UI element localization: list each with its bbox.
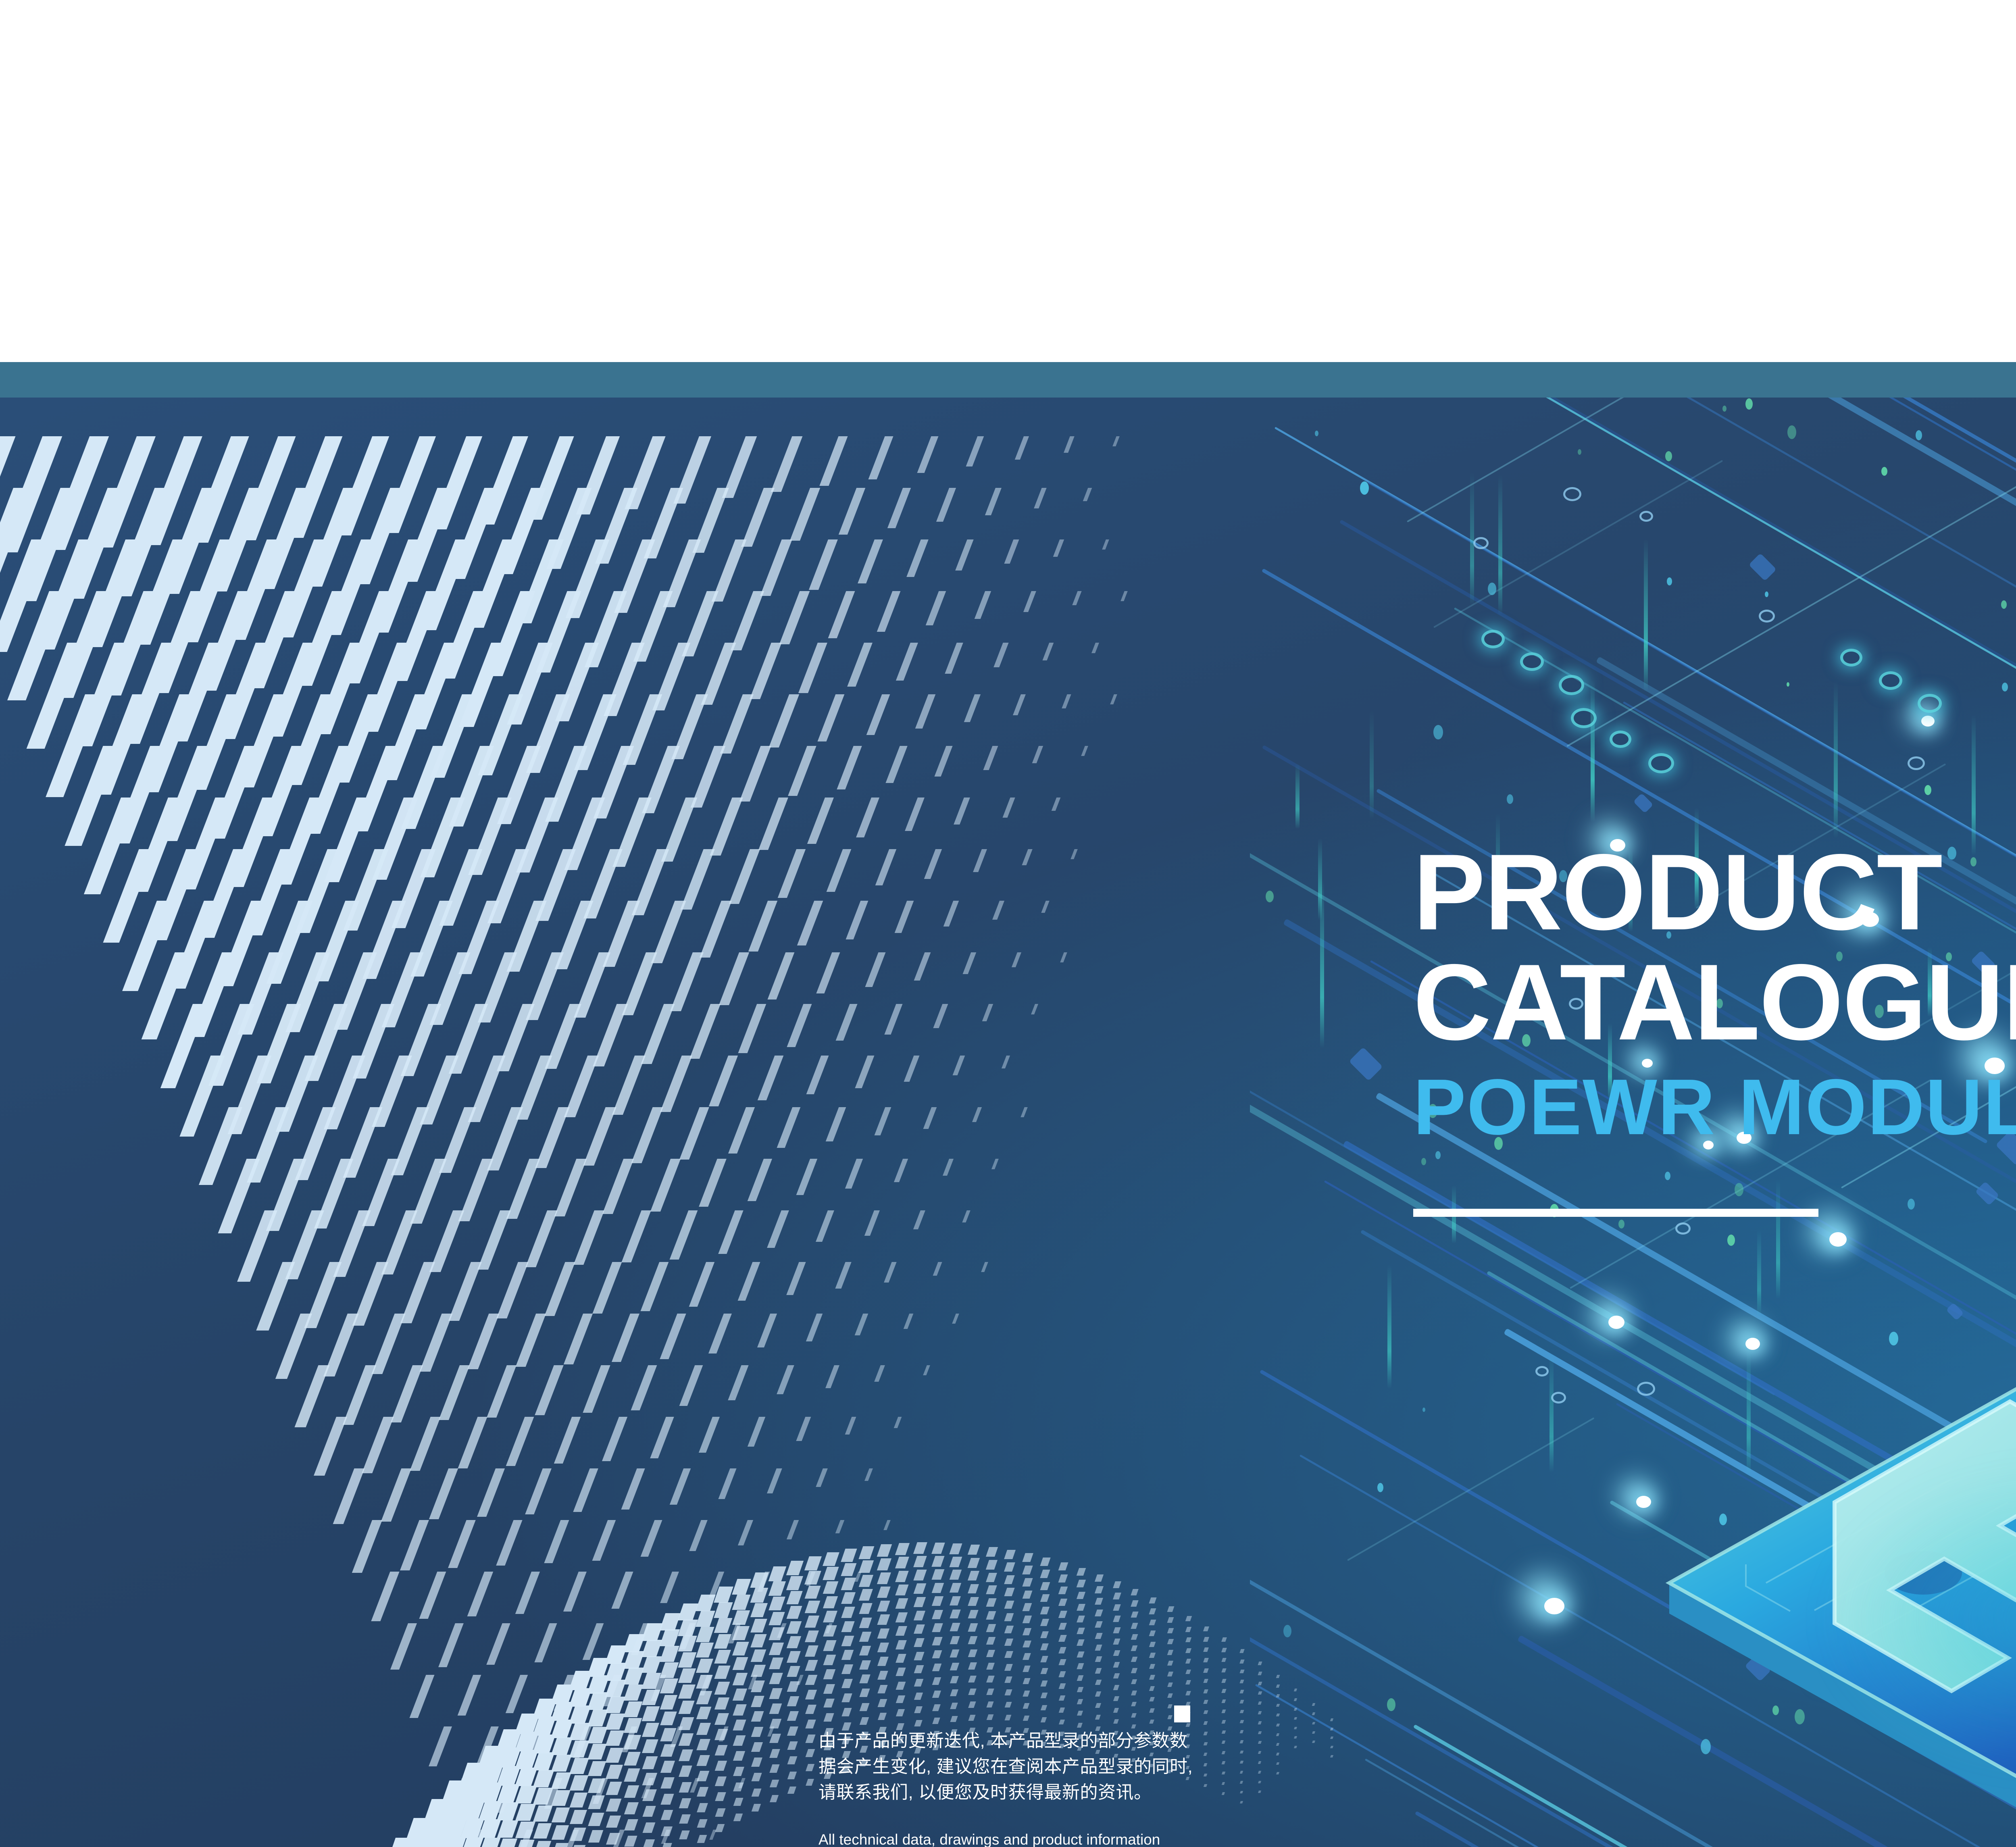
swoosh-cell xyxy=(877,1587,891,1598)
circuit-rain-line xyxy=(1470,473,1474,606)
halftone-cell xyxy=(1032,746,1043,763)
swoosh-cell xyxy=(1312,1722,1315,1724)
halftone-cell xyxy=(573,1210,604,1265)
swoosh-cell xyxy=(1149,1686,1155,1691)
circuit-pad-ring xyxy=(1563,487,1581,501)
swoosh-cell xyxy=(696,1723,711,1735)
swoosh-cell xyxy=(823,1684,835,1694)
swoosh-cell xyxy=(1058,1574,1068,1583)
swoosh-cell xyxy=(1185,1680,1191,1685)
swoosh-cell xyxy=(805,1720,816,1728)
swoosh-cell xyxy=(678,1701,695,1714)
swoosh-cell xyxy=(715,1776,727,1786)
halftone-cell xyxy=(1031,1004,1038,1014)
circuit-via-ring xyxy=(1481,630,1505,648)
halftone-cell xyxy=(1002,1056,1010,1068)
swoosh-cell xyxy=(787,1711,799,1721)
swoosh-cell xyxy=(696,1691,712,1704)
swoosh-cell xyxy=(714,1713,729,1725)
swoosh-cell xyxy=(750,1588,768,1603)
swoosh-cell xyxy=(1113,1593,1121,1599)
swoosh-cell xyxy=(1149,1597,1156,1603)
swoosh-cell xyxy=(878,1713,887,1720)
swoosh-cell xyxy=(968,1689,976,1695)
swoosh-cell xyxy=(877,1601,890,1612)
swoosh-cell xyxy=(1203,1721,1208,1725)
halftone-cell xyxy=(728,1107,755,1154)
swoosh-cell xyxy=(1005,1702,1012,1707)
swoosh-cell xyxy=(1131,1679,1137,1684)
swoosh-cell xyxy=(896,1709,905,1716)
disclaimer-chinese: 由于产品的更新迭代, 本产品型录的部分参数数据会产生变化, 建议您在查阅本产品型… xyxy=(818,1728,1198,1805)
halftone-cell xyxy=(819,436,848,486)
swoosh-cell xyxy=(497,1820,519,1838)
swoosh-cell xyxy=(642,1706,660,1721)
halftone-cell xyxy=(689,1262,715,1307)
halftone-cell xyxy=(718,1210,743,1254)
swoosh-cell xyxy=(1040,1607,1050,1614)
halftone-cell xyxy=(141,952,190,1039)
swoosh-cell xyxy=(732,1610,750,1625)
swoosh-cell xyxy=(823,1581,838,1594)
swoosh-cell xyxy=(1022,1553,1033,1562)
swoosh-cell xyxy=(678,1652,697,1668)
swoosh-cell xyxy=(1221,1658,1227,1662)
swoosh-cell xyxy=(1221,1637,1227,1642)
swoosh-cell xyxy=(605,1680,626,1697)
title-divider-rule xyxy=(1413,1209,1818,1217)
swoosh-cell xyxy=(805,1660,818,1671)
swoosh-cell xyxy=(1113,1685,1119,1690)
swoosh-cell xyxy=(696,1675,712,1689)
swoosh-cell xyxy=(678,1685,695,1699)
swoosh-cell xyxy=(1185,1627,1192,1632)
swoosh-cell xyxy=(787,1621,802,1634)
circuit-glow-halo xyxy=(1508,1561,1581,1635)
circuit-node-dot xyxy=(1360,481,1369,495)
swoosh-cell xyxy=(1095,1715,1101,1720)
halftone-cell xyxy=(750,643,782,699)
halftone-cell xyxy=(554,1159,587,1216)
halftone-cell xyxy=(914,952,931,981)
swoosh-cell xyxy=(751,1742,763,1752)
swoosh-cell xyxy=(859,1603,873,1614)
halftone-cell xyxy=(769,694,799,748)
halftone-cell xyxy=(602,1159,634,1214)
swoosh-cell xyxy=(1276,1724,1280,1726)
swoosh-cell xyxy=(606,1833,620,1845)
swoosh-cell xyxy=(1240,1761,1243,1764)
swoosh-cell xyxy=(1294,1717,1297,1720)
swoosh-cell xyxy=(696,1739,710,1750)
swoosh-cell xyxy=(859,1632,872,1642)
swoosh-cell xyxy=(606,1748,624,1763)
swoosh-cell xyxy=(768,1597,785,1610)
swoosh-cell xyxy=(714,1729,728,1740)
swoosh-cell xyxy=(1095,1703,1101,1708)
swoosh-cell xyxy=(770,1795,779,1802)
swoosh-cell xyxy=(986,1637,996,1645)
swoosh-cell xyxy=(1258,1751,1262,1754)
halftone-cell xyxy=(904,1314,914,1329)
swoosh-cell xyxy=(806,1764,815,1771)
swoosh-cell xyxy=(552,1843,568,1847)
halftone-cell xyxy=(983,746,998,770)
halftone-cell xyxy=(975,591,991,619)
swoosh-cell xyxy=(751,1649,766,1662)
swoosh-cell xyxy=(750,1634,766,1647)
swoosh-cell xyxy=(733,1735,746,1746)
swoosh-cell xyxy=(515,1786,537,1803)
swoosh-cell xyxy=(661,1826,673,1836)
swoosh-cell xyxy=(1077,1663,1084,1669)
halftone-cell xyxy=(757,1314,777,1347)
swoosh-cell xyxy=(1203,1647,1209,1652)
swoosh-cell xyxy=(968,1584,979,1593)
swoosh-cell xyxy=(605,1663,627,1681)
swoosh-cell xyxy=(1040,1668,1048,1674)
halftone-cell xyxy=(1023,591,1036,612)
halftone-cell xyxy=(809,539,837,590)
circuit-node-dot xyxy=(1422,1408,1425,1412)
circuit-node-dot xyxy=(1433,725,1443,739)
swoosh-cell xyxy=(696,1755,710,1766)
swoosh-cell xyxy=(1095,1586,1104,1593)
swoosh-cell xyxy=(950,1557,962,1567)
circuit-rain-line xyxy=(1498,475,1502,615)
swoosh-cell xyxy=(806,1749,815,1757)
swoosh-cell xyxy=(1276,1694,1280,1697)
swoosh-cell xyxy=(1113,1662,1120,1668)
halftone-cell xyxy=(1002,798,1015,818)
swoosh-cell xyxy=(968,1636,978,1644)
swoosh-cell xyxy=(1240,1791,1243,1793)
swoosh-cell xyxy=(1095,1621,1103,1628)
swoosh-cell xyxy=(1312,1703,1315,1706)
swoosh-cell xyxy=(986,1701,994,1707)
swoosh-cell xyxy=(914,1693,923,1700)
swoosh-cell xyxy=(1113,1696,1119,1701)
swoosh-cell xyxy=(624,1785,639,1798)
swoosh-cell xyxy=(1276,1762,1279,1765)
swoosh-cell xyxy=(823,1596,838,1608)
swoosh-cell xyxy=(1131,1634,1138,1640)
halftone-cell xyxy=(670,1210,698,1260)
halftone-cell xyxy=(933,1262,942,1276)
circuit-trace xyxy=(1347,1417,1594,1561)
halftone-cell xyxy=(1112,436,1120,446)
halftone-cell xyxy=(806,1056,829,1094)
swoosh-cell xyxy=(877,1544,892,1557)
swoosh-cell xyxy=(1077,1616,1085,1622)
swoosh-cell xyxy=(1077,1687,1083,1692)
halftone-cell xyxy=(516,1314,546,1367)
swoosh-cell xyxy=(1240,1781,1243,1784)
swoosh-cell xyxy=(624,1802,639,1814)
catalogue-cover-page: VAHNDER xyxy=(0,0,2016,1847)
swoosh-cell xyxy=(1041,1717,1047,1722)
swoosh-cell xyxy=(1294,1736,1297,1739)
swoosh-cell xyxy=(1058,1659,1066,1665)
swoosh-cell xyxy=(1203,1637,1209,1642)
swoosh-cell xyxy=(660,1678,678,1693)
swoosh-cell xyxy=(1167,1682,1173,1687)
halftone-cell xyxy=(739,746,771,802)
swoosh-cell xyxy=(641,1656,662,1673)
halftone-cell xyxy=(1013,694,1026,715)
swoosh-cell xyxy=(1058,1647,1066,1653)
circuit-node-dot xyxy=(1881,467,1887,476)
swoosh-cell xyxy=(1239,1649,1244,1653)
swoosh-cell xyxy=(1167,1606,1174,1612)
swoosh-cell xyxy=(1040,1558,1050,1566)
circuit-node-dot xyxy=(1924,785,1931,795)
swoosh-cell xyxy=(1095,1598,1103,1605)
swoosh-cell xyxy=(1203,1710,1208,1714)
halftone-cell xyxy=(964,694,981,722)
swoosh-cell xyxy=(715,1761,727,1771)
swoosh-cell xyxy=(895,1543,910,1555)
halftone-cell xyxy=(700,901,732,958)
halftone-cell xyxy=(767,1210,789,1248)
swoosh-cell xyxy=(587,1710,608,1726)
circuit-node-dot xyxy=(1665,1172,1670,1180)
halftone-cell xyxy=(839,488,866,535)
swoosh-cell xyxy=(624,1768,640,1782)
halftone-cell xyxy=(835,1004,857,1041)
swoosh-cell xyxy=(768,1612,785,1625)
swoosh-cell xyxy=(1131,1702,1137,1706)
circuit-node-dot xyxy=(1488,583,1496,595)
swoosh-cell xyxy=(697,1787,709,1797)
halftone-cell xyxy=(760,539,792,596)
circuit-via-ring xyxy=(1879,671,1902,690)
swoosh-cell xyxy=(769,1749,780,1758)
swoosh-cell xyxy=(1131,1657,1137,1662)
chip-glow xyxy=(1718,1397,2016,1841)
halftone-cell xyxy=(631,1107,663,1163)
circuit-node-dot xyxy=(1387,1698,1395,1711)
swoosh-cell xyxy=(642,1739,658,1753)
circuit-node-dot xyxy=(1727,1235,1735,1246)
swoosh-cell xyxy=(1004,1575,1015,1584)
swoosh-cell xyxy=(1185,1670,1191,1674)
swoosh-cell xyxy=(552,1807,570,1822)
swoosh-cell xyxy=(1204,1742,1208,1745)
swoosh-cell xyxy=(787,1666,800,1677)
swoosh-cell xyxy=(1059,1707,1065,1713)
swoosh-cell xyxy=(823,1669,835,1679)
swoosh-cell xyxy=(787,1651,801,1663)
swoosh-cell xyxy=(570,1810,587,1824)
swoosh-cell xyxy=(1058,1623,1067,1630)
swoosh-cell xyxy=(714,1587,733,1603)
swoosh-cell xyxy=(1149,1642,1156,1647)
swoosh-cell xyxy=(1004,1588,1014,1596)
halftone-cell xyxy=(993,643,1008,667)
swoosh-cell xyxy=(823,1611,837,1622)
swoosh-cell xyxy=(1005,1715,1012,1720)
swoosh-cell xyxy=(1258,1701,1262,1705)
disclaimer-block: 由于产品的更新迭代, 本产品型录的部分参数数据会产生变化, 建议您在查阅本产品型… xyxy=(818,1728,1198,1847)
halftone-cell xyxy=(926,591,946,625)
swoosh-cell xyxy=(679,1782,691,1793)
circuit-glow-dot xyxy=(1544,1598,1564,1614)
halftone-cell xyxy=(660,1314,686,1359)
halftone-cell xyxy=(448,1262,482,1321)
circuit-node-dot xyxy=(2001,600,2007,609)
swoosh-cell xyxy=(752,1804,761,1812)
swoosh-cell xyxy=(678,1668,696,1683)
swoosh-cell xyxy=(1185,1637,1191,1642)
swoosh-cell xyxy=(733,1720,746,1730)
circuit-via-ring xyxy=(1559,675,1584,695)
halftone-cell xyxy=(1110,694,1117,704)
halftone-cell xyxy=(1052,798,1060,811)
swoosh-cell xyxy=(1058,1671,1066,1677)
swoosh-cell xyxy=(1004,1689,1012,1695)
swoosh-cell xyxy=(787,1696,800,1706)
swoosh-cell xyxy=(1221,1679,1226,1683)
swoosh-cell xyxy=(1077,1699,1083,1704)
circuit-diamond-pad xyxy=(1349,1047,1383,1081)
circuit-node-dot xyxy=(1507,794,1513,804)
halftone-cell xyxy=(877,591,901,632)
swoosh-cell xyxy=(1221,1699,1226,1703)
swoosh-cell xyxy=(733,1798,743,1806)
swoosh-cell xyxy=(932,1704,941,1711)
swoosh-cell xyxy=(1258,1791,1261,1793)
swoosh-cell xyxy=(786,1576,803,1590)
halftone-cell xyxy=(906,539,928,577)
swoosh-cell xyxy=(805,1690,817,1699)
swoosh-cell xyxy=(660,1744,676,1757)
swoosh-cell xyxy=(841,1549,857,1562)
swoosh-cell xyxy=(1240,1740,1244,1743)
swoosh-cell xyxy=(1149,1608,1156,1614)
swoosh-cell xyxy=(588,1761,606,1776)
swoosh-cell xyxy=(1258,1761,1262,1764)
swoosh-cell xyxy=(623,1685,643,1701)
halftone-cell xyxy=(544,1262,575,1316)
halftone-cell xyxy=(865,952,885,987)
halftone-cell xyxy=(827,849,851,892)
circuit-pad-ring xyxy=(1551,1392,1566,1403)
swoosh-cell xyxy=(986,1650,995,1657)
swoosh-cell xyxy=(986,1560,998,1570)
circuit-via-ring xyxy=(1520,652,1544,671)
swoosh-cell xyxy=(1203,1689,1208,1693)
swoosh-cell xyxy=(841,1693,852,1702)
halftone-cell xyxy=(963,952,976,974)
swoosh-cell xyxy=(877,1657,889,1666)
halftone-cell xyxy=(1053,539,1064,557)
swoosh-cell xyxy=(768,1566,787,1581)
swoosh-cell xyxy=(950,1689,958,1696)
swoosh-cell xyxy=(1276,1733,1280,1736)
halftone-cell xyxy=(468,1314,499,1369)
swoosh-cell xyxy=(896,1598,908,1609)
halftone-cell xyxy=(1081,746,1088,756)
swoosh-cell xyxy=(769,1764,779,1773)
swoosh-cell xyxy=(986,1585,997,1594)
swoosh-cell xyxy=(643,1822,656,1833)
swoosh-cell xyxy=(624,1836,637,1847)
halftone-cell xyxy=(525,1210,558,1267)
swoosh-cell xyxy=(913,1542,927,1554)
swoosh-cell xyxy=(1058,1599,1068,1606)
swoosh-cell xyxy=(1113,1719,1119,1724)
swoosh-cell xyxy=(714,1682,730,1695)
halftone-cell xyxy=(1062,694,1071,708)
swoosh-cell xyxy=(1004,1562,1015,1572)
halftone-cell xyxy=(256,1262,295,1331)
halftone-cell xyxy=(771,436,802,492)
swoosh-cell xyxy=(642,1789,656,1801)
halftone-cell xyxy=(858,539,883,583)
swoosh-cell xyxy=(714,1618,732,1633)
swoosh-cell xyxy=(1204,1753,1208,1756)
swoosh-cell xyxy=(896,1668,906,1676)
halftone-cell xyxy=(868,436,893,479)
circuit-node-dot xyxy=(1667,577,1672,585)
swoosh-cell xyxy=(769,1643,784,1655)
swoosh-cell xyxy=(1113,1708,1119,1713)
swoosh-cell xyxy=(787,1741,798,1750)
swoosh-cell xyxy=(986,1598,996,1607)
halftone-cell xyxy=(818,694,845,741)
swoosh-cell xyxy=(932,1664,942,1671)
circuit-node-dot xyxy=(1421,1158,1426,1165)
swoosh-cell xyxy=(623,1651,645,1669)
swoosh-cell xyxy=(823,1567,839,1580)
swoosh-cell xyxy=(805,1601,820,1613)
swoosh-cell xyxy=(1004,1639,1013,1646)
swoosh-cell xyxy=(859,1560,874,1573)
swoosh-cell xyxy=(606,1765,623,1779)
halftone-cell xyxy=(972,1107,982,1122)
swoosh-cell xyxy=(1022,1578,1033,1587)
swoosh-cell xyxy=(1095,1691,1102,1697)
swoosh-cell xyxy=(1041,1705,1047,1710)
swoosh-cell xyxy=(624,1718,642,1733)
swoosh-cell xyxy=(1167,1693,1173,1698)
circuit-diamond-pad xyxy=(1975,1181,1999,1206)
swoosh-cell xyxy=(552,1825,569,1840)
swoosh-cell xyxy=(641,1640,662,1657)
swoosh-cell xyxy=(751,1711,764,1722)
swoosh-cell xyxy=(696,1611,715,1627)
swoosh-cell xyxy=(896,1612,908,1622)
halftone-cell xyxy=(650,1159,681,1212)
swoosh-cell xyxy=(1077,1580,1086,1587)
swoosh-cell xyxy=(588,1795,605,1809)
halftone-cell xyxy=(1022,849,1032,865)
swoosh-cell xyxy=(679,1830,690,1839)
swoosh-cell xyxy=(1167,1650,1173,1655)
swoosh-cell xyxy=(1222,1741,1226,1744)
halftone-cell xyxy=(933,1004,948,1028)
halftone-cell xyxy=(884,1262,897,1283)
swoosh-cell xyxy=(679,1733,694,1746)
swoosh-cell xyxy=(986,1573,997,1582)
halftone-cell xyxy=(741,488,775,547)
swoosh-cell xyxy=(1095,1668,1102,1674)
halftone-cell xyxy=(924,849,942,879)
swoosh-cell xyxy=(714,1634,732,1649)
swoosh-cell xyxy=(1276,1753,1279,1755)
swoosh-cell xyxy=(1240,1700,1244,1703)
